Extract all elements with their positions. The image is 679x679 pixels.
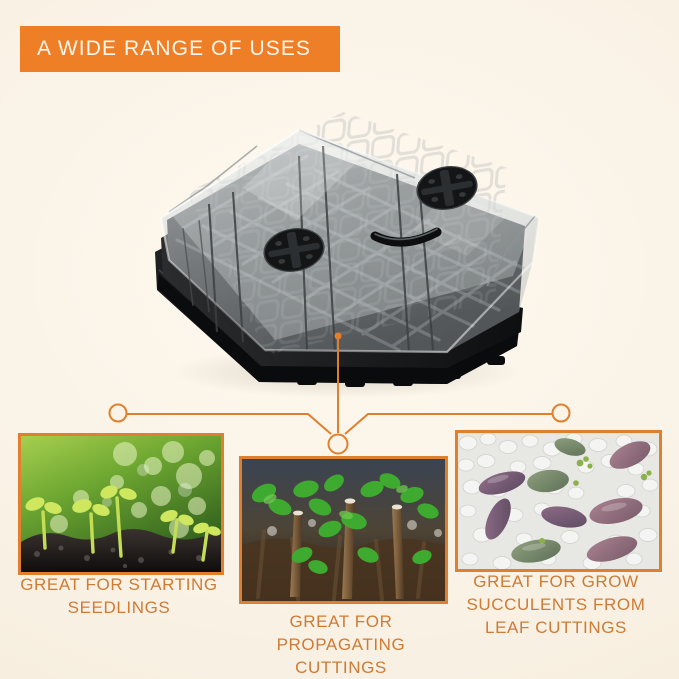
infographic-stage: A WIDE RANGE OF USES — [0, 0, 679, 679]
thumbnail-succulents[interactable] — [455, 430, 662, 572]
caption-seedlings: GREAT FOR STARTING SEEDLINGS — [8, 573, 230, 619]
node-left — [110, 405, 127, 422]
caption-succulents: GREAT FOR GROW SUCCULENTS FROM LEAF CUTT… — [446, 570, 666, 639]
caption-line: SEEDLINGS — [8, 596, 230, 619]
caption-line: SUCCULENTS FROM — [446, 593, 666, 616]
caption-cuttings: GREAT FOR PROPAGATING CUTTINGS — [228, 610, 454, 679]
seedlings-photo — [21, 436, 221, 572]
succulents-photo — [458, 433, 659, 569]
node-center — [329, 435, 348, 454]
thumbnail-seedlings[interactable] — [18, 433, 224, 575]
product-illustration — [147, 100, 542, 400]
caption-line: GREAT FOR PROPAGATING — [228, 610, 454, 656]
connector-left — [126, 414, 331, 434]
caption-line: GREAT FOR GROW — [446, 570, 666, 593]
page-title: A WIDE RANGE OF USES — [20, 37, 311, 61]
caption-line: GREAT FOR STARTING — [8, 573, 230, 596]
header-banner: A WIDE RANGE OF USES — [20, 26, 340, 72]
node-right — [553, 405, 570, 422]
caption-line: LEAF CUTTINGS — [446, 616, 666, 639]
caption-line: CUTTINGS — [228, 656, 454, 679]
thumbnail-cuttings[interactable] — [239, 456, 448, 604]
cuttings-photo — [242, 459, 445, 601]
product-image — [147, 100, 542, 400]
